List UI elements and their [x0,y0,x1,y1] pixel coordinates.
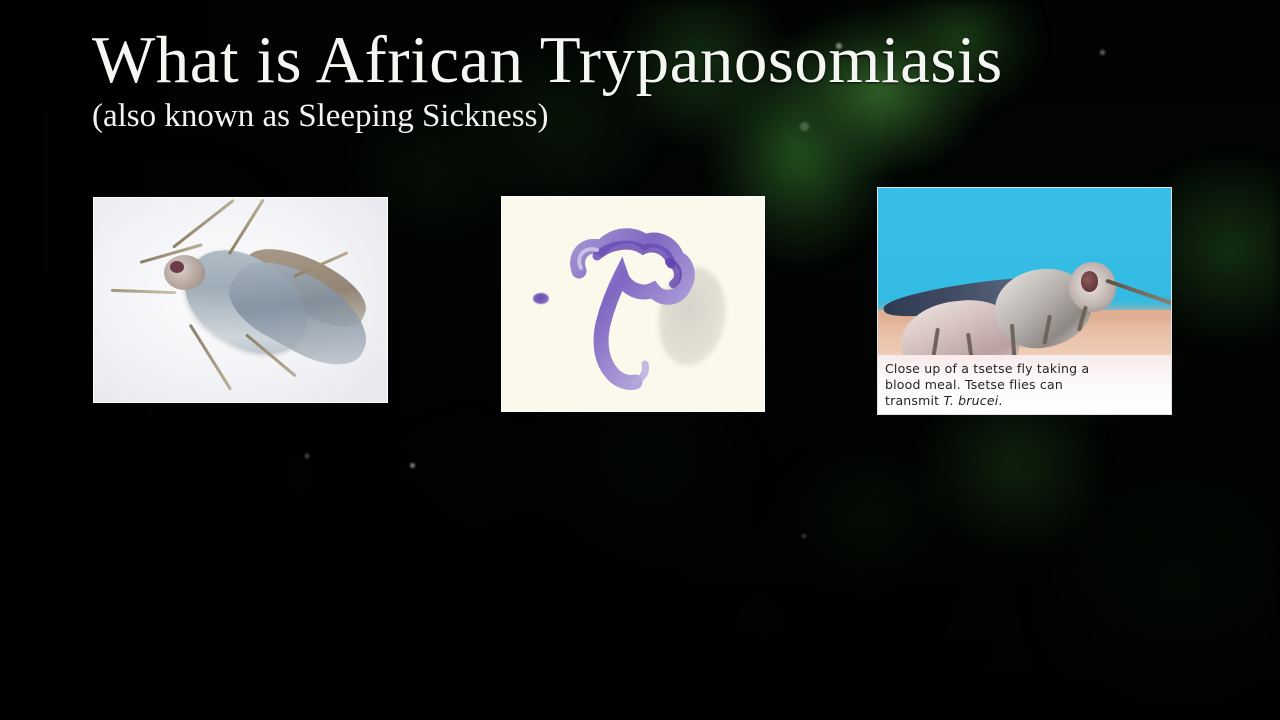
image-tsetse-fly-blood-meal: Close up of a tsetse fly taking a blood … [877,187,1172,415]
page-title: What is African Trypanosomiasis [92,26,1003,94]
fly-head [164,255,205,290]
image-trypanosome-blood-smear [501,196,765,412]
caption-line-2: blood meal. Tsetse flies can [885,377,1164,393]
bokeh-speck [1100,50,1105,55]
page-subtitle: (also known as Sleeping Sickness) [92,98,1003,134]
bokeh-speck [410,463,415,468]
caption-line-1: Close up of a tsetse fly taking a [885,361,1164,377]
title-block: What is African Trypanosomiasis (also kn… [92,26,1003,135]
caption-species-name: T. brucei [943,393,998,408]
image-caption: Close up of a tsetse fly taking a blood … [877,355,1172,415]
caption-line-3-prefix: transmit [885,393,943,408]
slide-canvas: What is African Trypanosomiasis (also kn… [0,0,1280,720]
bokeh-speck [305,454,309,458]
trypanosome-parasite [501,196,765,412]
caption-line-3: transmit T. brucei. [885,393,1164,409]
image-tsetse-fly-specimen [93,197,388,403]
bokeh-speck [802,534,806,538]
fly-eye [1081,271,1099,292]
caption-line-3-suffix: . [998,393,1002,408]
